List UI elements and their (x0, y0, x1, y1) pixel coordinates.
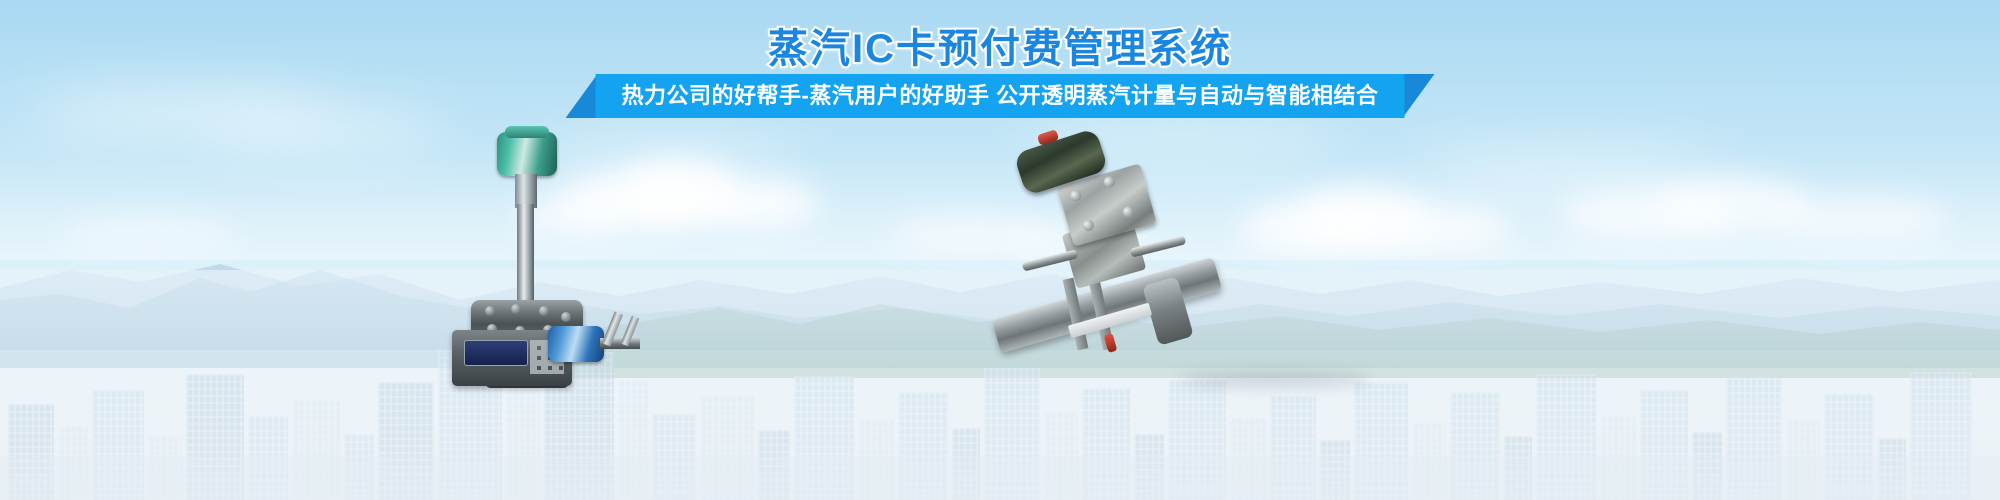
dp-valve-handle-right (1130, 235, 1187, 257)
dp-drain-valve (1104, 333, 1118, 353)
ribbon-fold-left-icon (566, 74, 598, 118)
sensor-probe-b (621, 316, 640, 347)
product-dp-transmitter (1010, 138, 1220, 388)
mountain-range-near (0, 248, 2000, 368)
cityscape (0, 270, 2000, 500)
product-temperature-sensor (548, 312, 644, 388)
dp-pipe (992, 257, 1222, 353)
flowmeter-stem (517, 204, 534, 314)
dp-nameplate (1068, 303, 1152, 339)
ribbon-fold-right-icon (1402, 74, 1434, 118)
sensor-stem (600, 338, 640, 349)
hero-banner: 蒸汽IC卡预付费管理系统 热力公司的好帮手-蒸汽用户的好助手 公开透明蒸汽计量与… (0, 0, 2000, 500)
dp-support-leg-b (1089, 280, 1114, 351)
pipe-shadow (1180, 372, 1370, 388)
subtitle-ribbon: 热力公司的好帮手-蒸汽用户的好助手 公开透明蒸汽计量与自动与智能相结合 (596, 74, 1405, 118)
dp-valve-block (1062, 215, 1147, 289)
ribbon-body: 热力公司的好帮手-蒸汽用户的好助手 公开透明蒸汽计量与自动与智能相结合 (596, 74, 1405, 118)
dp-support-leg-a (1063, 278, 1089, 351)
mountain-range-green (560, 268, 2000, 378)
dp-pipe-flange (1142, 276, 1194, 346)
banner-subtitle-text: 热力公司的好帮手-蒸汽用户的好助手 公开透明蒸汽计量与自动与智能相结合 (622, 74, 1379, 118)
mountain-range-far (0, 230, 2000, 350)
controller-cable (498, 306, 558, 346)
dp-valve-handle-left (1022, 249, 1079, 271)
dp-manifold (1057, 163, 1157, 246)
banner-title-text: 蒸汽IC卡预付费管理系统 (768, 16, 1232, 74)
foreground-haze (0, 380, 2000, 500)
banner-title: 蒸汽IC卡预付费管理系统 (0, 16, 2000, 74)
sensor-probe-a (602, 312, 623, 347)
flowmeter-neck (515, 174, 537, 208)
